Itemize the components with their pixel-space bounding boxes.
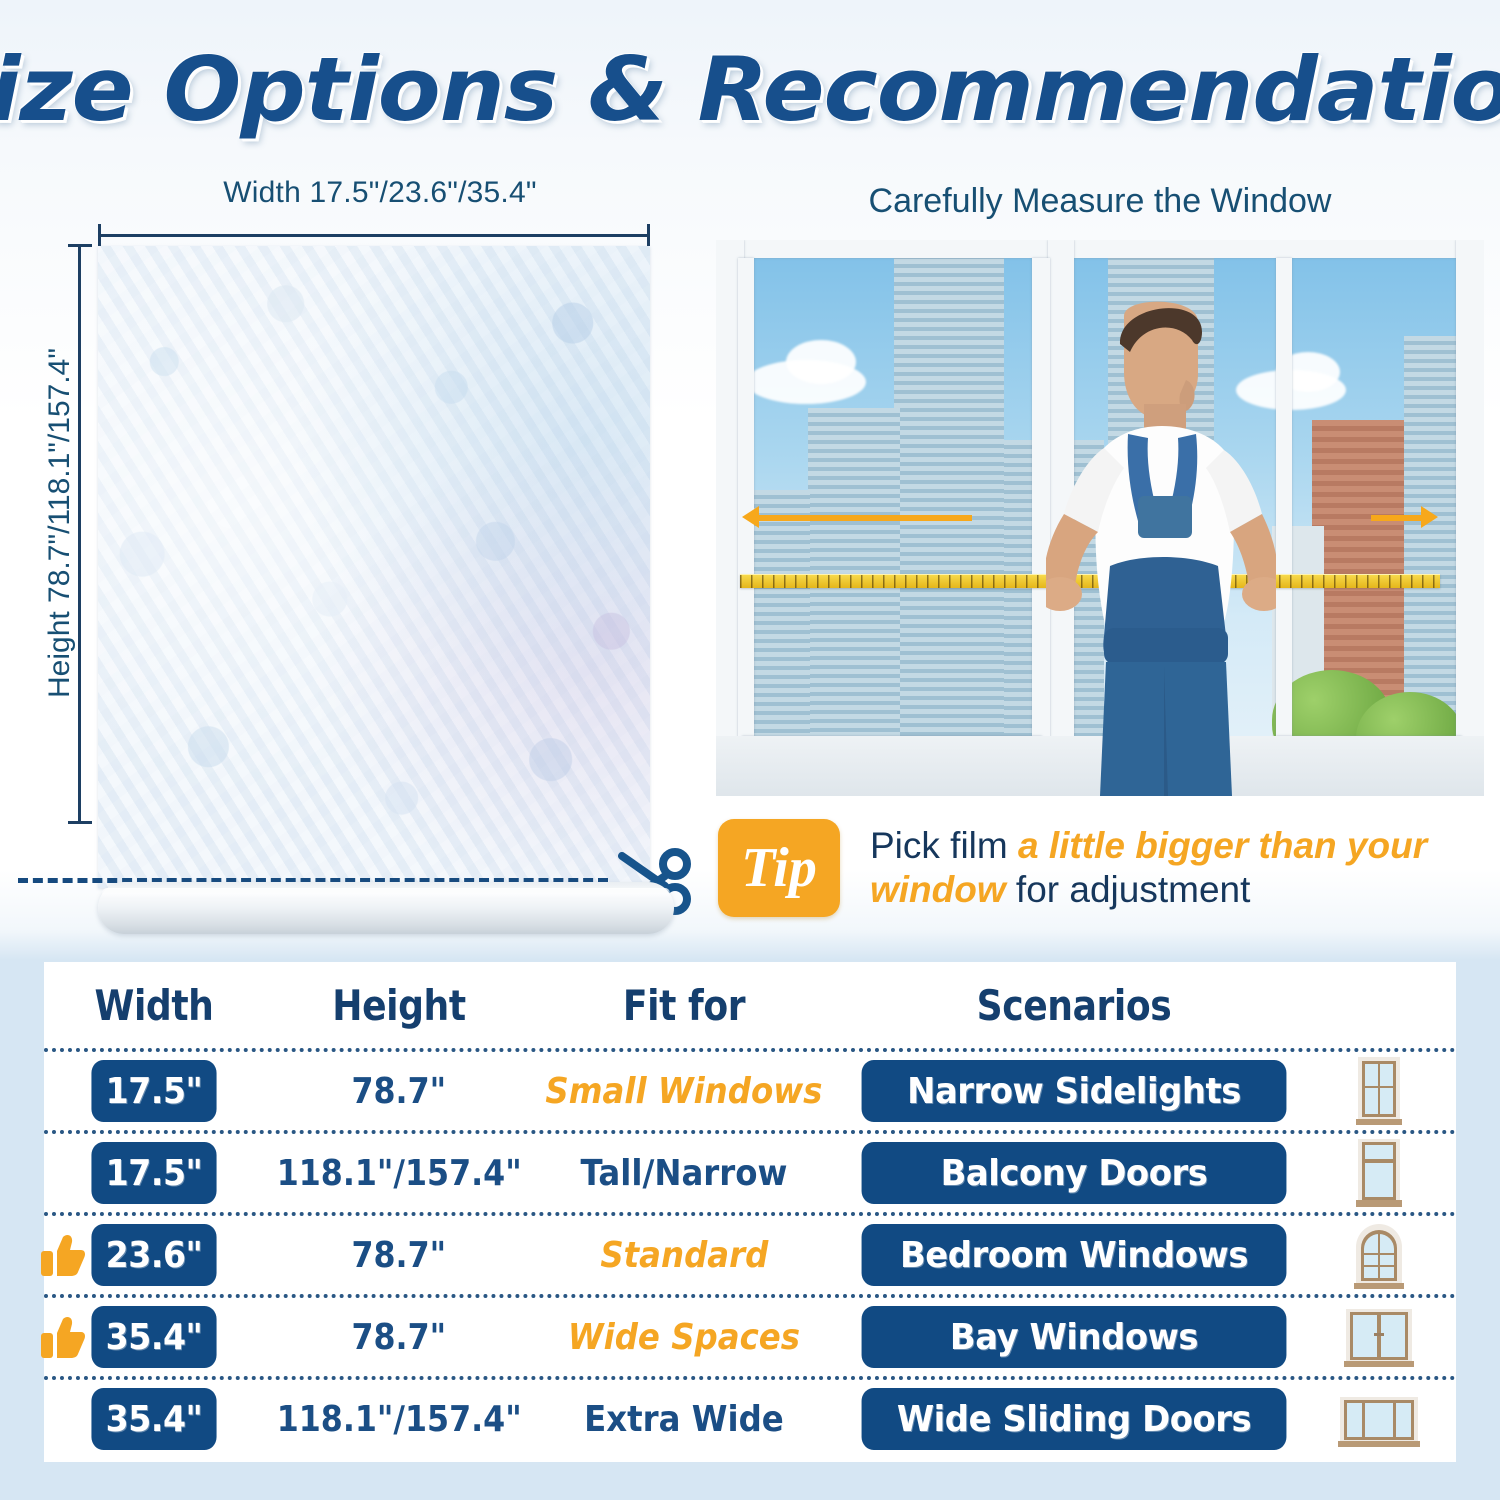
cell-width: 17.5" [44,1134,264,1212]
tip-text-after: for adjustment [1006,869,1251,910]
height-dimension-line [68,244,92,824]
width-dim-cap-right [647,224,650,248]
cell-scenario: Balcony Doors [834,1134,1314,1212]
fit-for-value: Standard [600,1235,768,1276]
cell-window-icon [1314,1216,1444,1294]
measuring-photo [716,240,1484,796]
film-roll [98,882,674,934]
table-row: 35.4"78.7"Wide SpacesBay Windows [44,1298,1456,1376]
thumbs-up-icon [40,1315,86,1359]
width-pill: 17.5" [91,1060,216,1122]
cell-window-icon [1314,1052,1444,1130]
cell-height: 118.1"/157.4" [264,1380,534,1458]
window-2x2-icon [1336,1055,1422,1127]
cell-height: 78.7" [264,1216,534,1294]
column-header-fit-for: Fit for [555,981,813,1030]
film-sample-panel: Width 17.5"/23.6"/35.4" Height 78.7"/118… [18,176,698,936]
arrow-segment-left [757,515,972,521]
column-header-height: Height [283,981,515,1030]
table-row: 35.4"118.1"/157.4"Extra WideWide Sliding… [44,1380,1456,1458]
column-header-scenarios: Scenarios [868,981,1281,1030]
width-dimension-line [98,224,650,246]
scenario-pill: Balcony Doors [862,1142,1287,1204]
cell-height: 78.7" [264,1298,534,1376]
cell-width: 17.5" [44,1052,264,1130]
window-frame-top [716,240,1484,258]
cell-window-icon [1314,1380,1444,1458]
scenario-pill: Wide Sliding Doors [862,1388,1287,1450]
cell-fit-for: Small Windows [534,1052,834,1130]
infographic-page: Size Options & Recommendation Width 17.5… [0,0,1500,1500]
cell-window-icon [1314,1134,1444,1212]
building-shape [894,250,1004,796]
window-film-sheet [98,246,650,888]
height-value: 118.1"/157.4" [277,1399,522,1440]
cell-width: 35.4" [44,1380,264,1458]
cell-window-icon [1314,1298,1444,1376]
cell-height: 78.7" [264,1052,534,1130]
arrow-head-right [1421,506,1438,528]
height-dim-cap-bottom [68,821,92,824]
height-value: 78.7" [352,1235,447,1276]
window-double-casement-icon [1336,1301,1422,1373]
scenario-pill: Narrow Sidelights [862,1060,1287,1122]
width-pill: 35.4" [91,1306,216,1368]
table-row: 17.5"78.7"Small WindowsNarrow Sidelights [44,1052,1456,1130]
tip-text: Pick film a little bigger than your wind… [870,824,1488,911]
table-body: 17.5"78.7"Small WindowsNarrow Sidelights… [44,1048,1456,1458]
cell-fit-for: Tall/Narrow [534,1134,834,1212]
fit-for-value: Wide Spaces [568,1317,800,1358]
height-dim-bar [78,244,81,824]
cell-scenario: Narrow Sidelights [834,1052,1314,1130]
measure-heading: Carefully Measure the Window [700,182,1500,221]
column-header-width: Width [59,981,248,1030]
cell-fit-for: Wide Spaces [534,1298,834,1376]
height-value: 118.1"/157.4" [277,1153,522,1194]
window-frame-right [1456,240,1484,796]
person-measuring [1046,298,1276,796]
scenario-pill: Bay Windows [862,1306,1287,1368]
cloud-shape [786,340,856,384]
fit-for-value: Small Windows [545,1071,822,1112]
table-row: 23.6"78.7"StandardBedroom Windows [44,1216,1456,1294]
page-title: Size Options & Recommendation [0,34,1500,144]
cell-height: 118.1"/157.4" [264,1134,534,1212]
page-title-text: Size Options & Recommendation [0,38,1500,141]
window-transom-icon [1336,1137,1422,1209]
size-table-card: Width Height Fit for Scenarios 17.5"78.7… [44,962,1456,1462]
height-value: 78.7" [352,1071,447,1112]
cell-fit-for: Standard [534,1216,834,1294]
tip-callout: Tip Pick film a little bigger than your … [718,812,1488,924]
tip-text-before: Pick film [870,825,1018,866]
thumbs-up-icon [40,1233,86,1277]
tip-badge-label: Tip [741,840,817,896]
scenario-pill: Bedroom Windows [862,1224,1287,1286]
width-dim-bar [98,234,650,237]
table-header-row: Width Height Fit for Scenarios [44,962,1456,1048]
cell-scenario: Bay Windows [834,1298,1314,1376]
fit-for-value: Extra Wide [584,1399,784,1440]
cell-scenario: Bedroom Windows [834,1216,1314,1294]
fit-for-value: Tall/Narrow [581,1153,788,1194]
width-pill: 23.6" [91,1224,216,1286]
width-dimension-label: Width 17.5"/23.6"/35.4" [100,176,660,210]
window-arched-icon [1336,1219,1422,1291]
arrow-segment-right [1371,515,1423,521]
cell-fit-for: Extra Wide [534,1380,834,1458]
cell-scenario: Wide Sliding Doors [834,1380,1314,1458]
width-pill: 17.5" [91,1142,216,1204]
height-value: 78.7" [352,1317,447,1358]
width-pill: 35.4" [91,1388,216,1450]
table-row: 17.5"118.1"/157.4"Tall/NarrowBalcony Doo… [44,1134,1456,1212]
window-sliding-3panel-icon [1336,1383,1422,1455]
tip-badge: Tip [718,819,840,917]
